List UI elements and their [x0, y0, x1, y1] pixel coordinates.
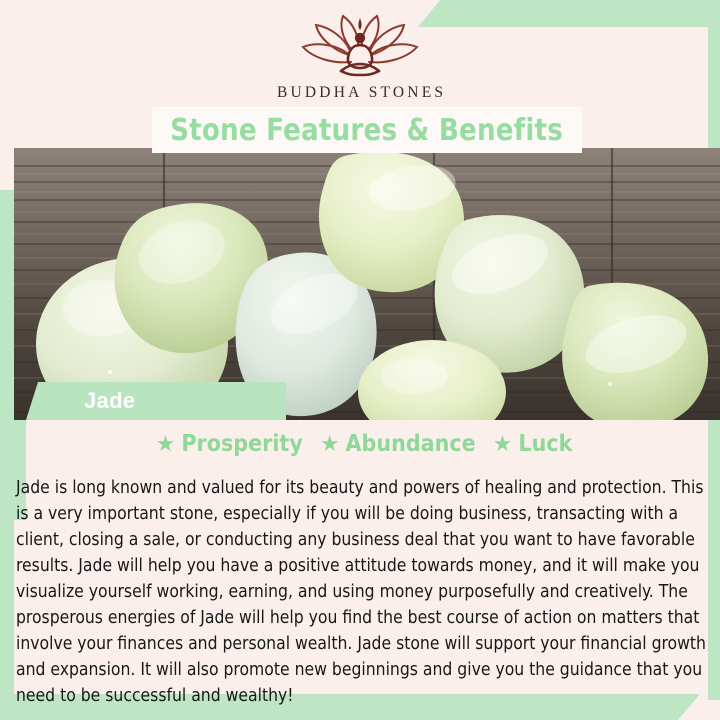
benefit-label: Luck — [518, 431, 572, 457]
decorative-band-left-lower — [0, 430, 14, 694]
stone-description: Jade is long known and valued for its be… — [14, 475, 714, 709]
benefits-row: ★ Prosperity ★ Abundance ★ Luck — [14, 431, 714, 457]
benefit-label: Abundance — [346, 431, 476, 457]
brand-logo: BUDDHA STONES — [0, 14, 720, 102]
page-title: Stone Features & Benefits — [171, 113, 564, 148]
star-icon: ★ — [156, 433, 176, 455]
benefit-item-abundance: ★ Abundance — [320, 431, 476, 457]
benefit-label: Prosperity — [181, 431, 302, 457]
jade-stones-illustration — [14, 148, 720, 420]
benefit-item-luck: ★ Luck — [493, 431, 573, 457]
stone-info-card: BUDDHA STONES Stone Features & Benefits — [0, 0, 720, 720]
title-banner: Stone Features & Benefits — [152, 107, 582, 153]
stone-name: Jade — [84, 388, 135, 414]
lotus-meditation-figure-icon — [291, 14, 429, 80]
star-icon: ★ — [320, 433, 340, 455]
star-icon: ★ — [493, 433, 513, 455]
brand-wordmark: BUDDHA STONES — [0, 84, 720, 102]
stone-name-band: Jade — [26, 382, 286, 420]
benefit-item-prosperity: ★ Prosperity — [156, 431, 303, 457]
stone-photo — [14, 148, 720, 420]
